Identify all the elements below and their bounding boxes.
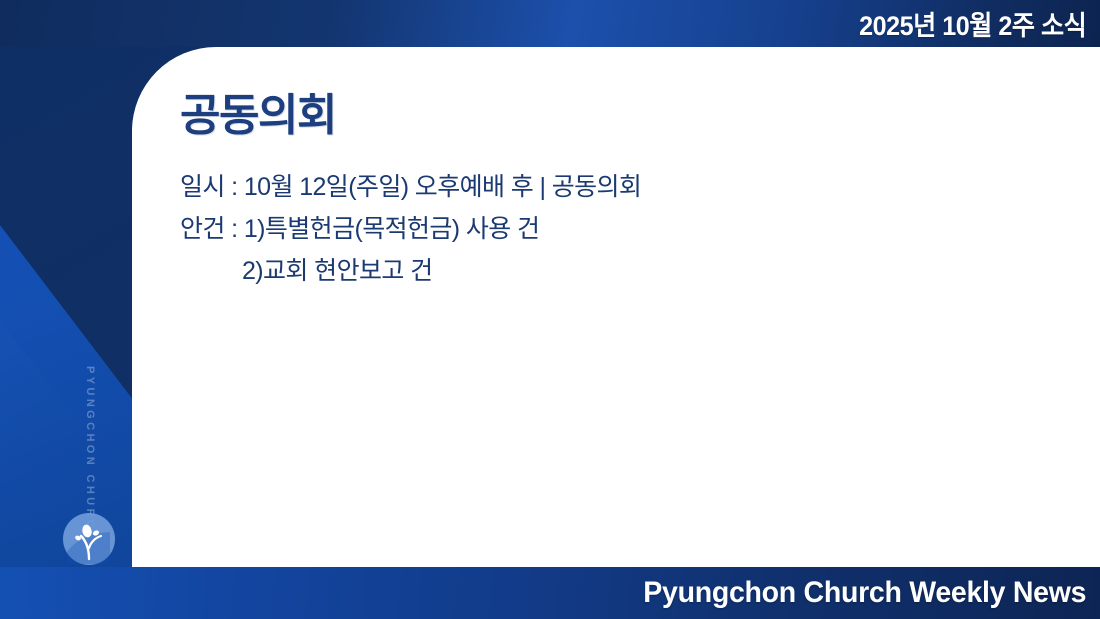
content-line-agenda-1: 안건 : 1)특별헌금(목적헌금) 사용 건 [180,208,1060,250]
header-title: 2025년 10월 2주 소식 [859,4,1086,43]
header-bar: 2025년 10월 2주 소식 [0,0,1100,47]
weekly-news-slide: 2025년 10월 2주 소식 공동의회 일시 : 10월 12일(주일) 오후… [0,0,1100,619]
content-line-datetime: 일시 : 10월 12일(주일) 오후예배 후 | 공동의회 [180,166,1060,208]
content-line-agenda-2: 2)교회 현안보고 건 [180,250,1060,292]
content-body: 일시 : 10월 12일(주일) 오후예배 후 | 공동의회 안건 : 1)특별… [180,166,1060,292]
pyungchon-church-logo-icon [62,512,116,566]
content-panel: 공동의회 일시 : 10월 12일(주일) 오후예배 후 | 공동의회 안건 :… [132,47,1100,567]
footer-bar: Pyungchon Church Weekly News [0,567,1100,619]
footer-title: Pyungchon Church Weekly News [643,576,1086,610]
page-title: 공동의회 [180,94,1060,138]
